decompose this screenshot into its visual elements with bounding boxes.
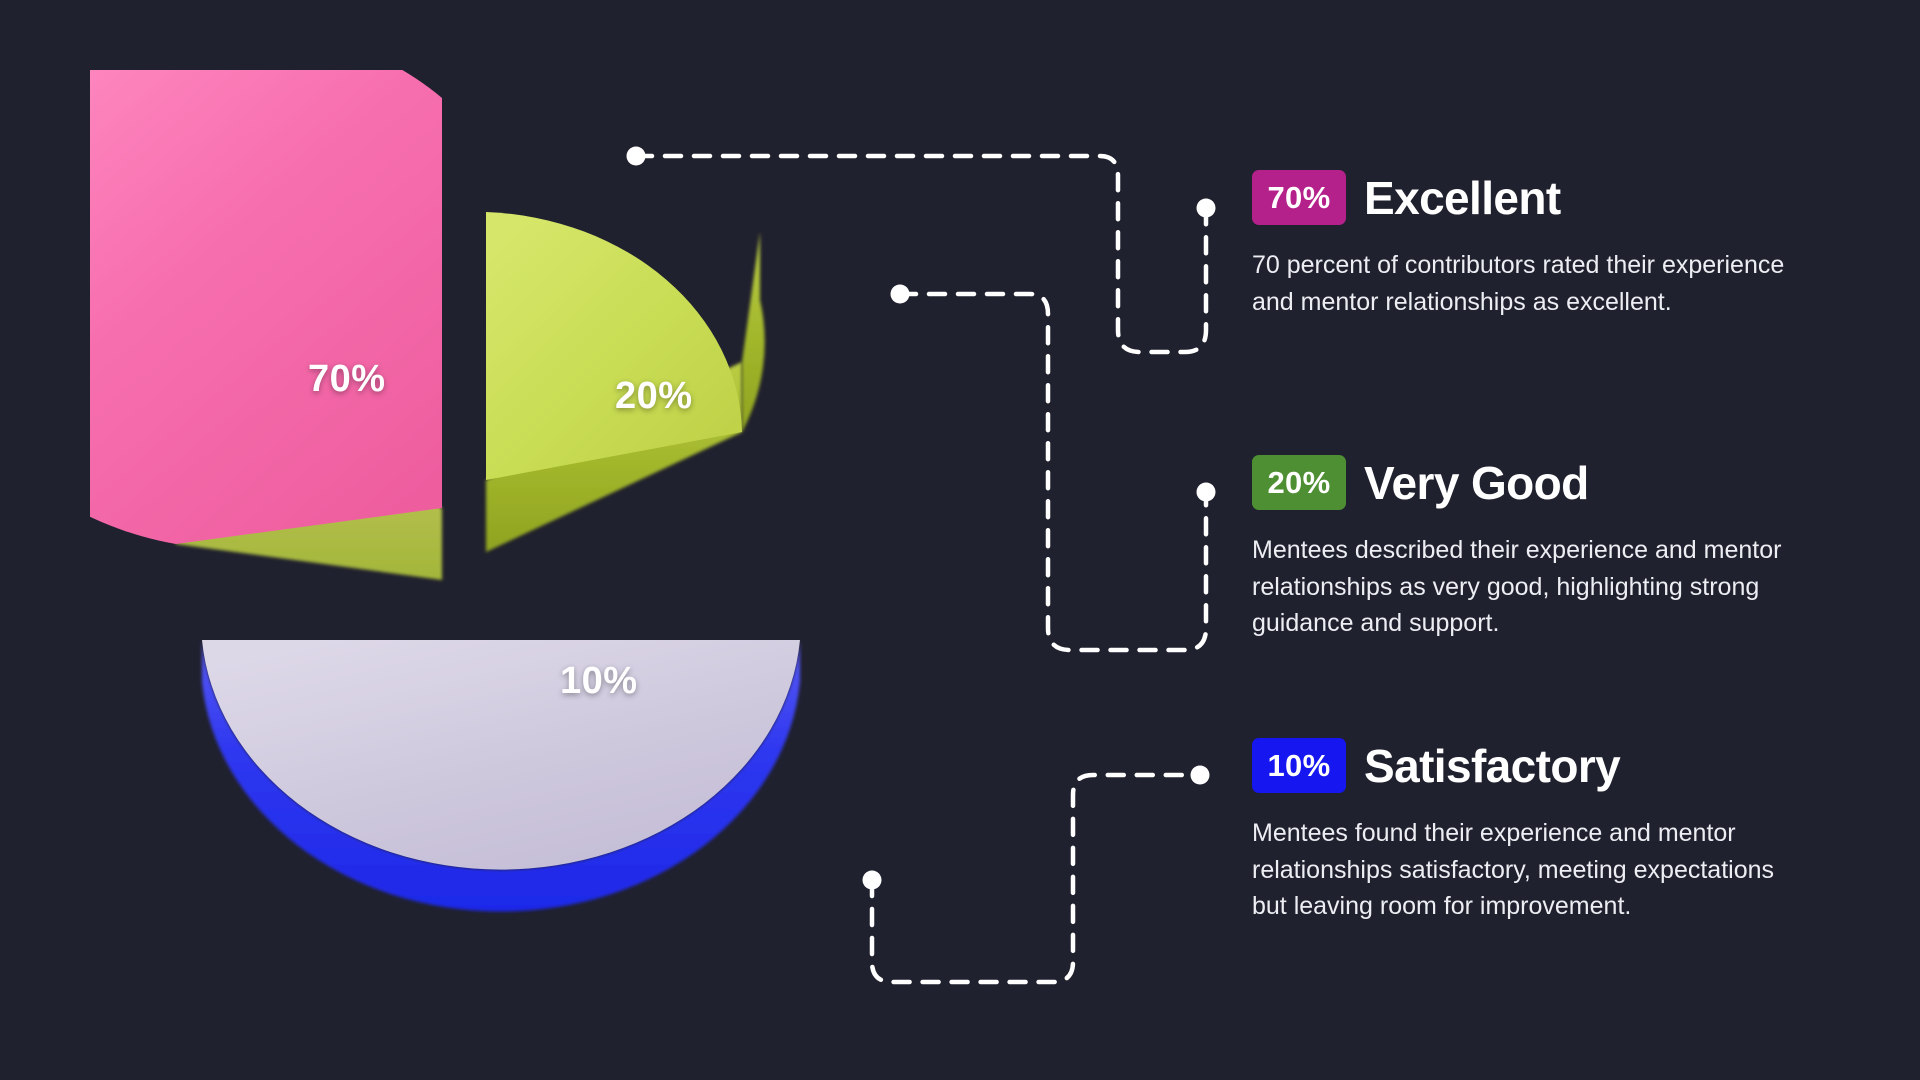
pie-slice-satisfactory	[202, 640, 800, 912]
legend-header-excellent: 70% Excellent	[1252, 170, 1832, 225]
legend-badge-satisfactory: 10%	[1252, 738, 1346, 793]
connector-dot-end-very-good	[1197, 483, 1216, 502]
infographic-canvas: 70% 20% 10% 70% Excellent	[0, 0, 1920, 1080]
legend-item-excellent[interactable]: 70% Excellent 70 percent of contributors…	[1252, 170, 1832, 320]
legend-header-very-good: 20% Very Good	[1252, 455, 1832, 510]
legend-header-satisfactory: 10% Satisfactory	[1252, 738, 1832, 793]
connector-dot-end-satisfactory	[1191, 766, 1210, 785]
connector-dot-end-excellent	[1197, 199, 1216, 218]
legend-badge-excellent: 70%	[1252, 170, 1346, 225]
pie-chart-svg	[90, 70, 970, 990]
legend-description-excellent: 70 percent of contributors rated their e…	[1252, 247, 1812, 320]
legend-item-satisfactory[interactable]: 10% Satisfactory Mentees found their exp…	[1252, 738, 1832, 925]
pie-chart: 70% 20% 10%	[90, 70, 970, 990]
legend-panel: 70% Excellent 70 percent of contributors…	[1252, 0, 1852, 1080]
pie-slice-very-good	[486, 212, 765, 552]
pie-slice-excellent	[90, 70, 442, 580]
legend-title-very-good: Very Good	[1364, 460, 1589, 506]
legend-description-satisfactory: Mentees found their experience and mento…	[1252, 815, 1812, 925]
legend-title-satisfactory: Satisfactory	[1364, 743, 1620, 789]
legend-description-very-good: Mentees described their experience and m…	[1252, 532, 1812, 642]
legend-title-excellent: Excellent	[1364, 175, 1561, 221]
legend-item-very-good[interactable]: 20% Very Good Mentees described their ex…	[1252, 455, 1832, 642]
legend-badge-very-good: 20%	[1252, 455, 1346, 510]
